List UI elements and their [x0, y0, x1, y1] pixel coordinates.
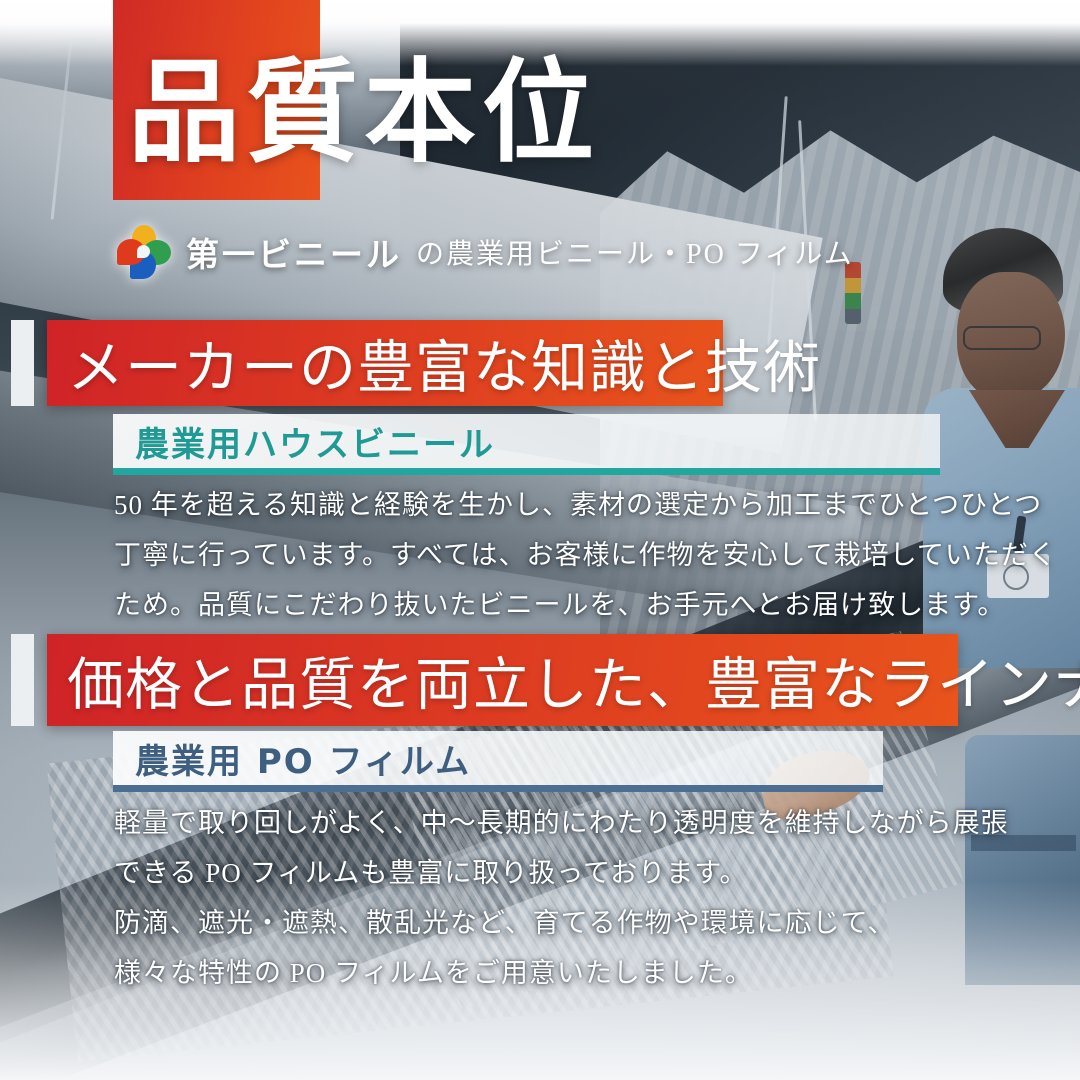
body-line: 様々な特性の PO フィルムをご用意いたしました。 [114, 948, 994, 998]
banner-accent-bar-2 [11, 634, 34, 726]
section-heading-label: 農業用 PO フィルム [113, 734, 471, 783]
banner-accent-bar-1 [11, 320, 34, 406]
body-line: 丁寧に行っています。すべては、お客様に作物を安心して栽培していただく [114, 530, 994, 580]
body-line: 軽量で取り回しがよく、中〜長期的にわたり透明度を維持しながら展張 [114, 798, 994, 848]
brand-tagline: の農業用ビニール・PO フィルム [416, 232, 854, 272]
section-heading-po-film: 農業用 PO フィルム [113, 731, 883, 785]
banner-label: メーカーの豊富な知識と技術 [47, 322, 821, 404]
section-body-house-vinyl: 50 年を超える知識と経験を生かし、素材の選定から加工までひとつひとつ 丁寧に行… [114, 480, 994, 630]
section-heading-underline-2 [113, 785, 883, 792]
brand-line: 第一ビニール の農業用ビニール・PO フィルム [116, 224, 854, 280]
promo-banner-canvas: 品質本位 第一ビニール の農業用ビニール・PO フィルム メーカーの豊富な知識と… [0, 0, 1080, 1080]
brand-name: 第一ビニール [186, 228, 402, 276]
body-line: できる PO フィルムも豊富に取り扱っております。 [114, 848, 994, 898]
body-line: 防滴、遮光・遮熱、散乱光など、育てる作物や環境に応じて、 [114, 898, 994, 948]
section-heading-house-vinyl: 農業用ハウスビニール [113, 414, 940, 468]
section-heading-label: 農業用ハウスビニール [113, 417, 495, 466]
section-body-po-film: 軽量で取り回しがよく、中〜長期的にわたり透明度を維持しながら展張 できる PO … [114, 798, 994, 998]
body-line: 50 年を超える知識と経験を生かし、素材の選定から加工までひとつひとつ [114, 480, 994, 530]
banner-knowledge-technology: メーカーの豊富な知識と技術 [47, 320, 723, 406]
body-line: ため。品質にこだわり抜いたビニールを、お手元へとお届け致します。 [114, 580, 994, 630]
section-heading-underline-1 [113, 468, 940, 475]
dainichi-pinwheel-logo-icon [116, 224, 172, 280]
logo-center [137, 245, 150, 258]
banner-price-quality-lineup: 価格と品質を両立した、豊富なラインナップ [47, 634, 958, 726]
page-title: 品質本位 [128, 58, 948, 170]
banner-label: 価格と品質を両立した、豊富なラインナップ [47, 639, 1080, 721]
